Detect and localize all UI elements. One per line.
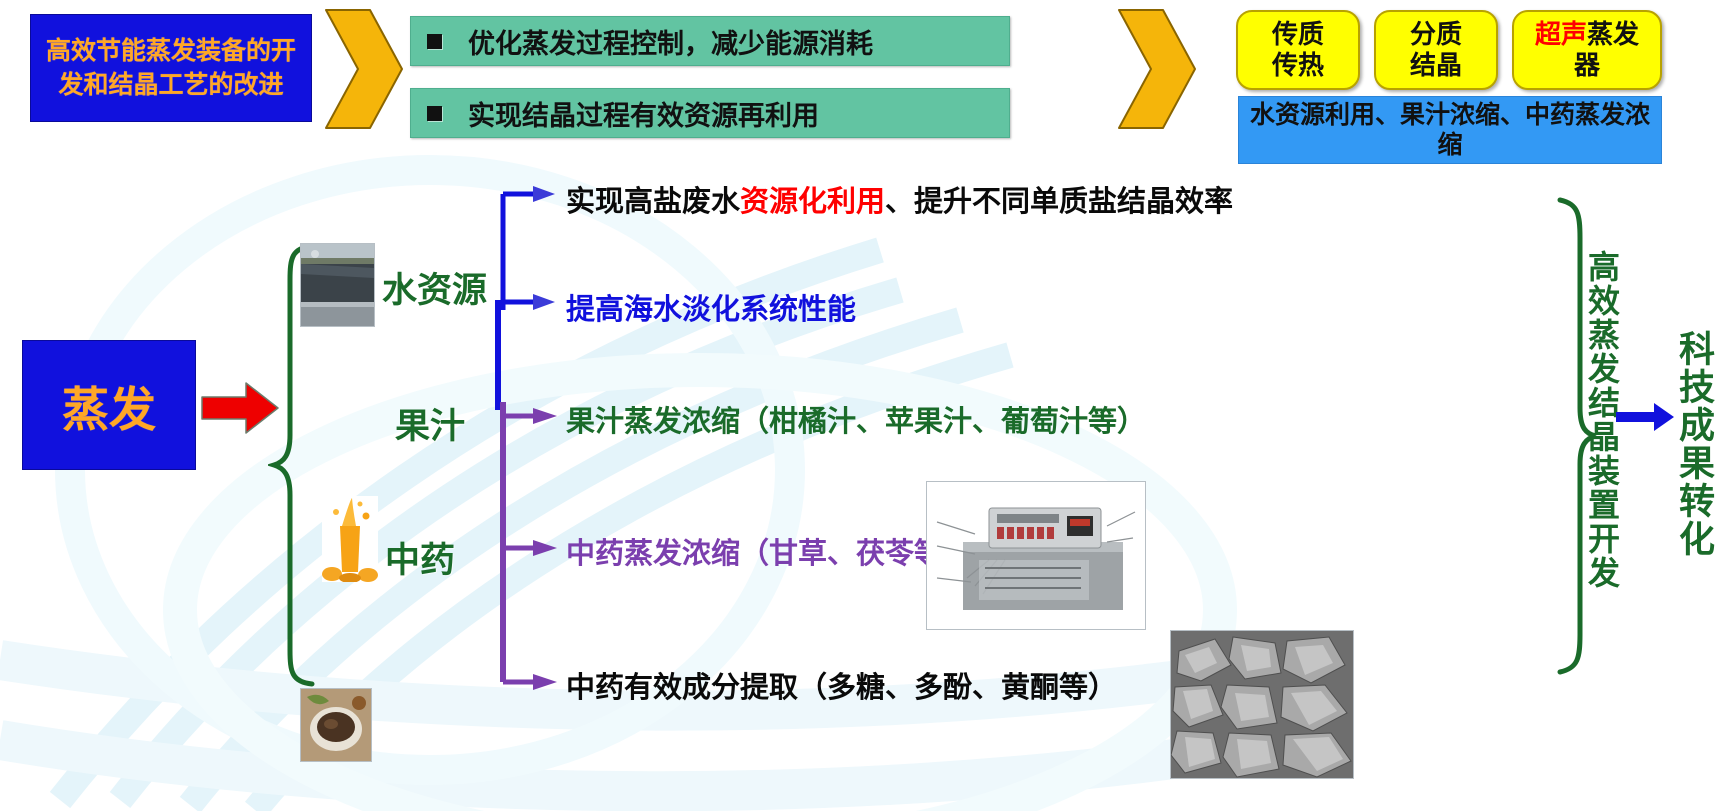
row-tcm-concentrate: 中药蒸发浓缩（甘草、茯苓等） [566,530,972,572]
outcome-device-label: 高效蒸发结晶装置开发 [1582,250,1622,670]
category-label-water: 水资源 [382,262,487,313]
goal-row-2: 实现结晶过程有效资源再利用 [410,88,1010,138]
tech-box-2-line2: 结晶 [1410,50,1462,80]
lab-evaporator-rig-photo [926,481,1146,630]
applications-bar: 水资源利用、果汁浓缩、中药蒸发浓缩 [1238,96,1662,164]
tech-box-1-line2: 传热 [1272,50,1324,80]
title-box: 高效节能蒸发装备的开发和结晶工艺的改进 [30,14,312,122]
row-tcm-extract: 中药有效成分提取（多糖、多酚、黄酮等） [566,664,1117,706]
bullet-square-icon [427,106,442,121]
category-label-juice: 果汁 [395,398,465,449]
tech-box-ultrasonic-evaporator: 超声蒸发 器 [1512,10,1662,90]
tech-box-3-highlight: 超声 [1535,19,1587,49]
juice-glass-photo-icon [322,496,378,582]
connector-blue-group [495,180,565,325]
row-juice: 果汁蒸发浓缩（柑橘汁、苹果汁、葡萄汁等） [566,398,1146,440]
row-brine-seg-1: 实现高盐废水 [566,186,740,218]
row-brine-seg-2: 资源化利用 [740,186,885,218]
goal-row-1: 优化蒸发过程控制，减少能源消耗 [410,16,1010,66]
category-label-tcm: 中药 [385,532,455,583]
tech-box-3-line2: 器 [1574,50,1600,80]
tech-box-2-line1: 分质 [1410,19,1462,49]
row-desalination: 提高海水淡化系统性能 [566,286,856,328]
outcome-blue-arrow-icon [1616,400,1676,439]
tech-box-1-line1: 传质 [1272,19,1324,49]
tech-box-3-line1: 蒸发 [1587,19,1639,49]
chevron-arrow-2-icon [1113,6,1199,132]
diagram-canvas: 高效节能蒸发装备的开发和结晶工艺的改进 优化蒸发过程控制，减少能源消耗 实现结晶… [0,0,1731,811]
background-swirl-decoration [0,140,1731,811]
salt-crystal-sem-photo [1170,630,1354,779]
wastewater-photo-icon [300,243,375,327]
source-evaporation-box: 蒸发 [22,340,196,470]
connector-purple-group [495,400,565,695]
tech-box-fractional-crystallization: 分质 结晶 [1374,10,1498,90]
chevron-arrow-1-icon [320,6,406,132]
row-brine-seg-3: 、提升不同单质盐结晶效率 [885,186,1233,218]
outcome-transfer-label: 科技成果转化 [1674,330,1714,610]
connector-blue-stem [495,300,501,410]
goal-2-label: 实现结晶过程有效资源再利用 [468,94,819,133]
tech-box-mass-heat-transfer: 传质 传热 [1236,10,1360,90]
goal-1-label: 优化蒸发过程控制，减少能源消耗 [468,22,873,61]
herbal-medicine-photo-icon [300,688,372,762]
bullet-square-icon [427,34,442,49]
row-brine: 实现高盐废水资源化利用、提升不同单质盐结晶效率 [566,178,1233,220]
